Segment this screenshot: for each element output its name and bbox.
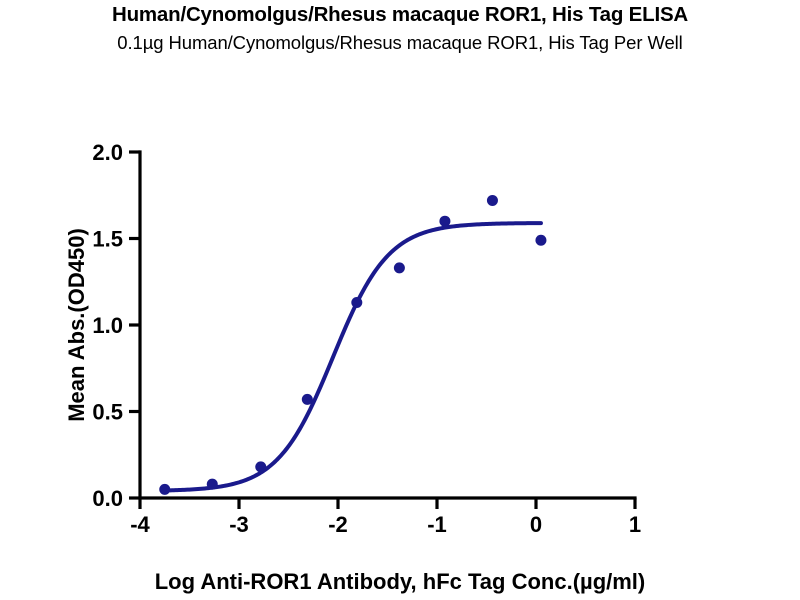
y-axis-title: Mean Abs.(OD450) (64, 228, 89, 422)
y-tick-label: 1.5 (92, 227, 123, 252)
fit-curve (162, 223, 541, 490)
elisa-scatter-plot: 0.00.51.01.52.0 -4-3-2-101 Mean Abs.(OD4… (0, 0, 800, 600)
data-point (302, 394, 313, 405)
chart-figure: Human/Cynomolgus/Rhesus macaque ROR1, Hi… (0, 0, 800, 600)
tick-mark-group (129, 152, 635, 509)
data-point (351, 297, 362, 308)
data-point (207, 479, 218, 490)
x-tick-label: -1 (427, 512, 447, 537)
x-tick-label: -4 (130, 512, 150, 537)
x-tick-label: 1 (629, 512, 641, 537)
y-tick-label: 2.0 (92, 140, 123, 165)
data-point (535, 235, 546, 246)
y-tick-label: 1.0 (92, 313, 123, 338)
data-point (255, 461, 266, 472)
data-point (487, 195, 498, 206)
data-point (159, 484, 170, 495)
x-tick-label: 0 (530, 512, 542, 537)
data-point-group (159, 195, 546, 495)
axis-spine (140, 152, 635, 498)
x-tick-label: -3 (229, 512, 249, 537)
x-axis-title: Log Anti-ROR1 Antibody, hFc Tag Conc.(µg… (155, 569, 646, 594)
data-point (439, 216, 450, 227)
y-tick-label: 0.5 (92, 400, 123, 425)
y-tick-label: 0.0 (92, 486, 123, 511)
x-tick-label: -2 (328, 512, 348, 537)
x-tick-label-group: -4-3-2-101 (130, 512, 641, 537)
y-tick-label-group: 0.00.51.01.52.0 (92, 140, 123, 511)
data-point (394, 262, 405, 273)
